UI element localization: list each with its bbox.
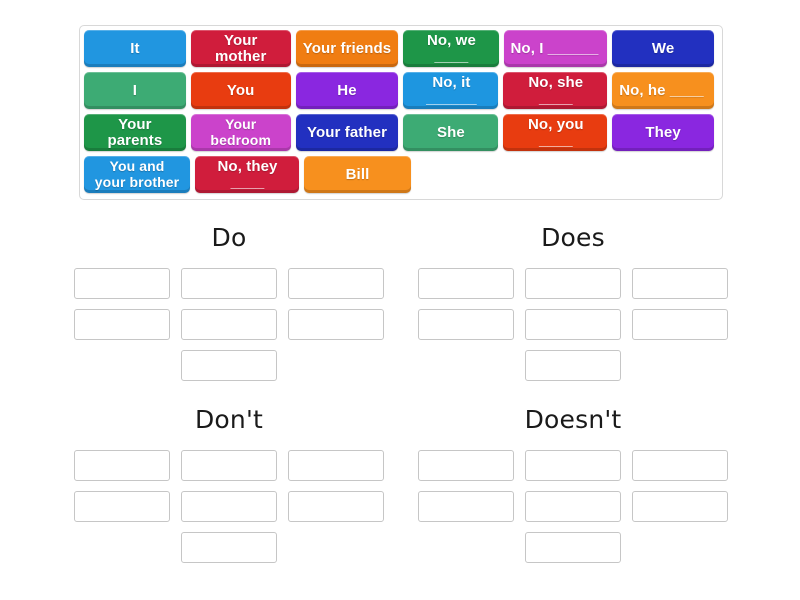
- word-tile[interactable]: Your bedroom: [191, 114, 291, 151]
- group-doesnt: Doesn't: [418, 407, 728, 573]
- slot-row: [74, 491, 384, 522]
- drop-slot-do[interactable]: [74, 309, 170, 340]
- group-sort-activity: ItYour motherYour friendsNo, we ____No, …: [0, 0, 800, 600]
- slot-row: [74, 350, 384, 381]
- drop-slot-dont[interactable]: [288, 491, 384, 522]
- drop-slot-doesnt[interactable]: [525, 532, 621, 563]
- slot-row: [418, 450, 728, 481]
- slot-row: [418, 309, 728, 340]
- word-tile[interactable]: No, it ______: [403, 72, 498, 109]
- drop-slot-dont[interactable]: [74, 450, 170, 481]
- group-dont: Don't: [74, 407, 384, 573]
- word-tile[interactable]: It: [84, 30, 186, 67]
- drop-slot-does[interactable]: [418, 309, 514, 340]
- word-tile[interactable]: No, you ____: [503, 114, 607, 151]
- slot-row: [74, 268, 384, 299]
- word-bank-row: IYouHeNo, it ______No, she ____No, he __…: [83, 72, 719, 113]
- drop-slot-dont[interactable]: [181, 491, 277, 522]
- slot-row: [74, 450, 384, 481]
- slot-row: [74, 309, 384, 340]
- word-tile[interactable]: Your mother: [191, 30, 291, 67]
- group-title-dont: Don't: [74, 407, 384, 432]
- drop-slot-doesnt[interactable]: [525, 491, 621, 522]
- drop-slot-dont[interactable]: [74, 491, 170, 522]
- word-tile[interactable]: Your father: [296, 114, 399, 151]
- drop-slot-does[interactable]: [525, 268, 621, 299]
- group-title-does: Does: [418, 225, 728, 250]
- word-tile[interactable]: No, he ____: [612, 72, 714, 109]
- word-tile[interactable]: I: [84, 72, 186, 109]
- word-tile[interactable]: She: [403, 114, 498, 151]
- drop-slot-doesnt[interactable]: [418, 450, 514, 481]
- word-tile[interactable]: Your friends: [296, 30, 399, 67]
- drop-slot-do[interactable]: [288, 309, 384, 340]
- word-bank-row: ItYour motherYour friendsNo, we ____No, …: [83, 30, 719, 71]
- slot-row: [74, 532, 384, 563]
- group-do: Do: [74, 225, 384, 391]
- group-title-doesnt: Doesn't: [418, 407, 728, 432]
- group-title-do: Do: [74, 225, 384, 250]
- drop-slot-doesnt[interactable]: [632, 491, 728, 522]
- slot-row: [418, 350, 728, 381]
- word-tile[interactable]: You: [191, 72, 291, 109]
- drop-slot-do[interactable]: [288, 268, 384, 299]
- slot-row: [418, 268, 728, 299]
- drop-slot-doesnt[interactable]: [418, 491, 514, 522]
- word-tile[interactable]: No, they ____: [195, 156, 299, 193]
- word-tile[interactable]: We: [612, 30, 714, 67]
- drop-slot-doesnt[interactable]: [525, 450, 621, 481]
- drop-slot-doesnt[interactable]: [632, 450, 728, 481]
- drop-slot-dont[interactable]: [181, 532, 277, 563]
- drop-slot-dont[interactable]: [181, 450, 277, 481]
- word-tile[interactable]: No, we ____: [403, 30, 498, 67]
- drop-slot-do[interactable]: [74, 268, 170, 299]
- slot-row: [418, 491, 728, 522]
- word-bank-row: Your parentsYour bedroomYour fatherSheNo…: [83, 114, 719, 155]
- drop-slot-dont[interactable]: [288, 450, 384, 481]
- word-tile[interactable]: No, she ____: [503, 72, 607, 109]
- drop-slot-does[interactable]: [418, 268, 514, 299]
- drop-slot-does[interactable]: [525, 350, 621, 381]
- word-tile[interactable]: Your parents: [84, 114, 186, 151]
- word-tile[interactable]: Bill: [304, 156, 411, 193]
- drop-slot-do[interactable]: [181, 350, 277, 381]
- word-tile[interactable]: You and your brother: [84, 156, 190, 193]
- drop-slot-do[interactable]: [181, 268, 277, 299]
- drop-slot-do[interactable]: [181, 309, 277, 340]
- group-does: Does: [418, 225, 728, 391]
- word-bank-panel: ItYour motherYour friendsNo, we ____No, …: [79, 25, 723, 200]
- slot-row: [418, 532, 728, 563]
- word-tile[interactable]: They: [612, 114, 714, 151]
- drop-slot-does[interactable]: [632, 309, 728, 340]
- drop-slot-does[interactable]: [632, 268, 728, 299]
- drop-slot-does[interactable]: [525, 309, 621, 340]
- word-tile[interactable]: No, I ______: [504, 30, 608, 67]
- word-bank-row: You and your brotherNo, they ____Bill: [83, 156, 719, 197]
- word-tile[interactable]: He: [296, 72, 399, 109]
